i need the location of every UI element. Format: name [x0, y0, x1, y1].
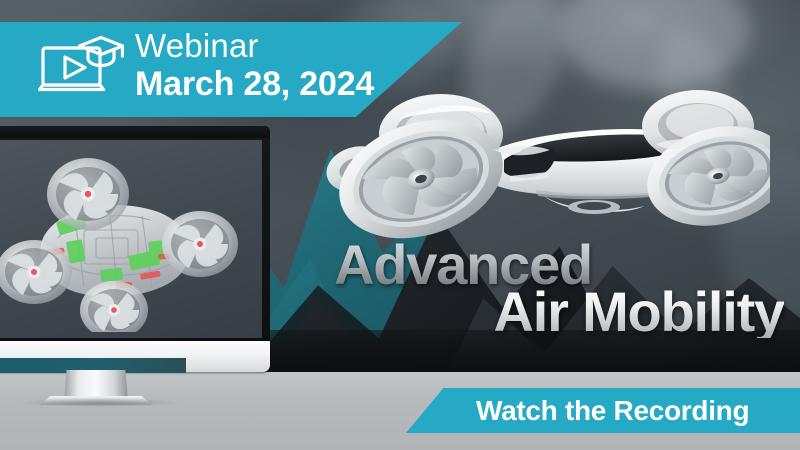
page-title: Advanced Air Mobility [334, 240, 784, 338]
watch-recording-button[interactable]: Watch the Recording [406, 388, 800, 433]
monitor-stand-neck [64, 370, 128, 400]
desktop-monitor [0, 126, 270, 372]
webinar-promo-banner: Webinar March 28, 2024 [0, 0, 800, 450]
title-line-air-mobility: Air Mobility [334, 286, 784, 338]
monitor-desk-shadow [20, 398, 180, 407]
watch-recording-label: Watch the Recording [476, 396, 749, 426]
cad-model-evtol [0, 146, 254, 332]
monitor-screen [0, 140, 262, 338]
webinar-header-text: Webinar March 28, 2024 [135, 27, 374, 104]
webinar-label: Webinar [135, 27, 374, 64]
webinar-laptop-play-graduation-cap-icon [38, 31, 124, 97]
webinar-date: March 28, 2024 [135, 64, 374, 104]
